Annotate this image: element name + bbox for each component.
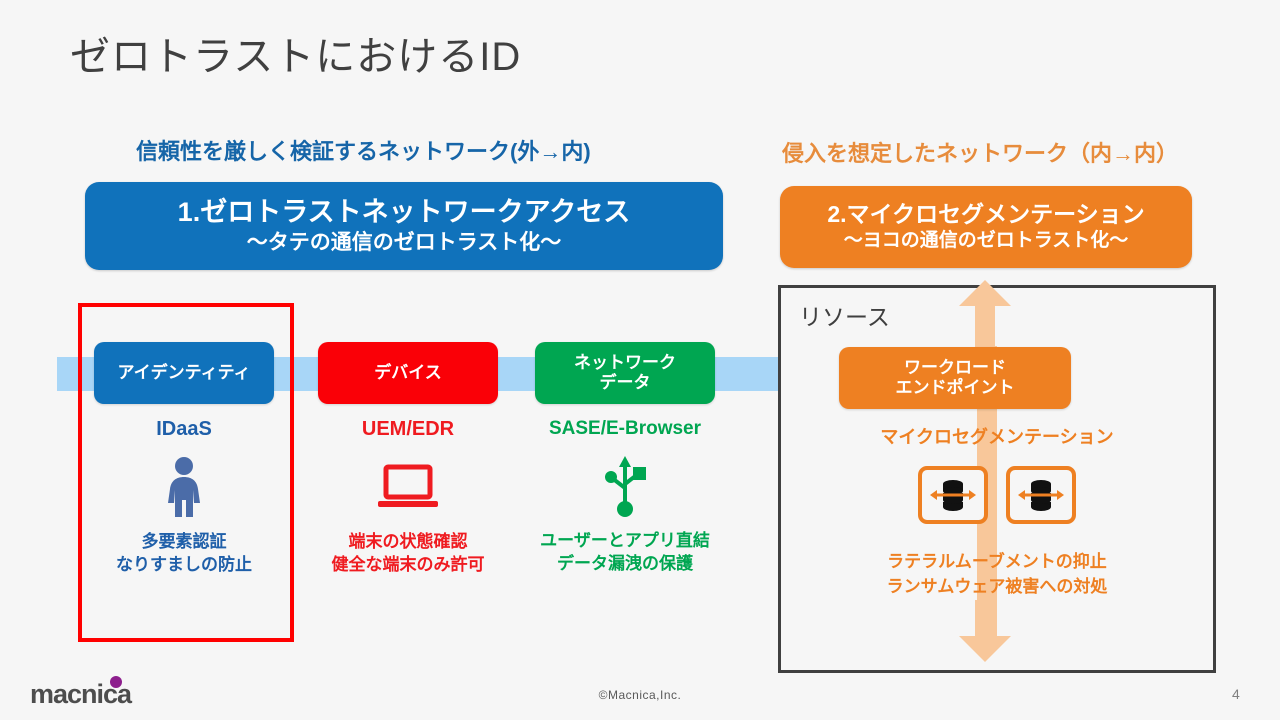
pillar-device-product: UEM/EDR <box>318 418 498 441</box>
copyright-text: ©Macnica,Inc. <box>0 688 1280 702</box>
database-card <box>1006 466 1076 524</box>
pillar-device-chip: デバイス <box>318 342 498 404</box>
workload-endpoint-box[interactable]: ワークロード エンドポイント <box>839 347 1071 409</box>
workload-line2: エンドポイント <box>896 378 1015 398</box>
database-arrows-icon <box>930 478 976 512</box>
ztna-banner-subtitle: 〜タテの通信のゼロトラスト化〜 <box>247 230 562 255</box>
identity-highlight-box <box>78 303 294 642</box>
microsegmentation-banner-title: 2.マイクロセグメンテーション <box>827 201 1144 227</box>
database-card <box>918 466 988 524</box>
left-section-header: 信頼性を厳しく検証するネットワーク(外→内) <box>136 134 591 166</box>
pillar-device-desc-line2: 健全な端末のみ許可 <box>318 554 498 577</box>
usb-branch-icon <box>535 450 715 522</box>
resource-desc-line2: ランサムウェア被害への対処 <box>781 575 1213 600</box>
pillar-device[interactable]: デバイス UEM/EDR 端末の状態確認 健全な端末のみ許可 <box>318 342 498 577</box>
pillar-network-chip: ネットワーク データ <box>535 342 715 404</box>
right-section-header: 侵入を想定したネットワーク（内→内） <box>782 136 1178 168</box>
resource-description: ラテラルムーブメントの抑止 ランサムウェア被害への対処 <box>781 550 1213 599</box>
resource-desc-line1: ラテラルムーブメントの抑止 <box>781 550 1213 575</box>
microsegmentation-label: マイクロセグメンテーション <box>781 423 1213 449</box>
ztna-banner-title: 1.ゼロトラストネットワークアクセス <box>178 197 631 228</box>
resource-panel: リソース ワークロード エンドポイント マイクロセグメンテーション <box>778 285 1216 673</box>
microsegmentation-banner-subtitle: 〜ヨコの通信のゼロトラスト化〜 <box>844 230 1129 253</box>
ztna-banner: 1.ゼロトラストネットワークアクセス 〜タテの通信のゼロトラスト化〜 <box>85 182 723 270</box>
pillar-network-chip-line1: ネットワーク <box>574 353 676 373</box>
pillar-network-product: SASE/E-Browser <box>535 418 715 440</box>
laptop-icon <box>318 451 498 523</box>
page-number: 4 <box>1232 686 1240 702</box>
pillar-network[interactable]: ネットワーク データ SASE/E-Browser ユーザーとアプリ直結 データ… <box>535 342 715 576</box>
slide-canvas: ゼロトラストにおけるID 信頼性を厳しく検証するネットワーク(外→内) 侵入を想… <box>0 0 1280 720</box>
database-icon-row <box>781 466 1213 524</box>
workload-line1: ワークロード <box>896 358 1015 378</box>
arrow-up-icon <box>959 280 1011 350</box>
microsegmentation-banner: 2.マイクロセグメンテーション 〜ヨコの通信のゼロトラスト化〜 <box>780 186 1192 268</box>
pillar-network-desc-line1: ユーザーとアプリ直結 <box>535 530 715 553</box>
arrow-down-icon <box>959 600 1011 662</box>
database-arrows-icon <box>1018 478 1064 512</box>
pillar-network-chip-line2: データ <box>574 373 676 393</box>
pillar-device-desc-line1: 端末の状態確認 <box>318 531 498 554</box>
resource-panel-label: リソース <box>799 298 890 332</box>
page-title: ゼロトラストにおけるID <box>70 24 521 82</box>
pillar-network-desc-line2: データ漏洩の保護 <box>535 553 715 576</box>
